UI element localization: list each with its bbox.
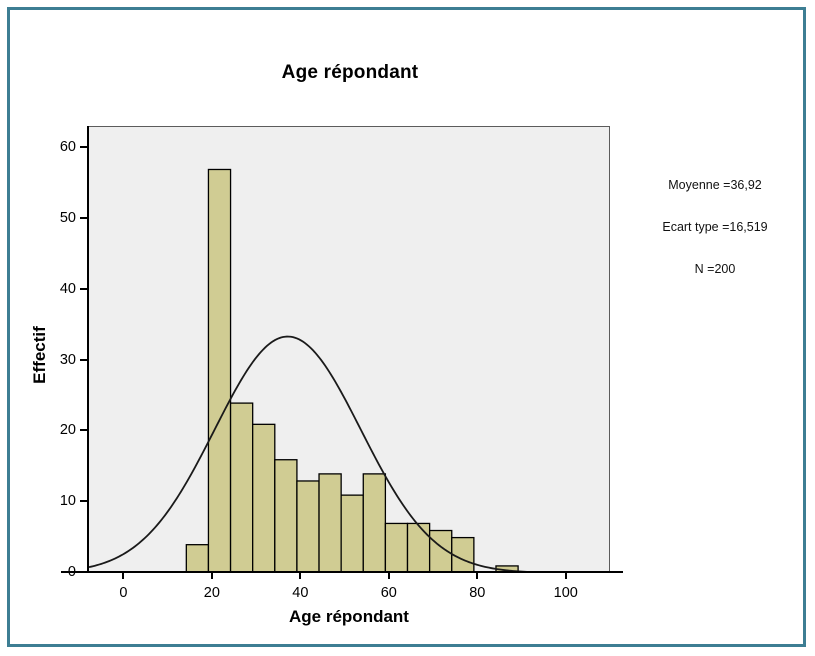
plot-area [88, 126, 610, 572]
statistics-annotation: Moyenne =36,92 Ecart type =16,519 N =200 [630, 150, 800, 304]
x-tick-label: 80 [469, 585, 485, 601]
bars-group [186, 169, 518, 572]
histogram-bar [297, 481, 319, 572]
y-tick-mark [80, 288, 88, 290]
histogram-bar [341, 495, 363, 572]
histogram-bar [319, 474, 341, 572]
stat-sd: Ecart type =16,519 [630, 220, 800, 234]
histogram-bar [253, 424, 275, 572]
y-axis-title: Effectif [30, 295, 50, 415]
histogram-bar [408, 523, 430, 572]
x-tick-mark [122, 571, 124, 579]
x-axis-title: Age répondant [88, 607, 610, 627]
y-tick-label: 20 [60, 422, 76, 438]
x-axis: 020406080100 [0, 571, 700, 611]
histogram-bar [275, 460, 297, 572]
y-tick-label: 10 [60, 493, 76, 509]
x-tick-mark [565, 571, 567, 579]
y-tick-mark [80, 429, 88, 431]
y-tick-mark [80, 500, 88, 502]
x-tick-label: 60 [381, 585, 397, 601]
y-tick-label: 50 [60, 210, 76, 226]
y-tick-label: 60 [60, 139, 76, 155]
histogram-bar [363, 474, 385, 572]
y-tick-label: 40 [60, 281, 76, 297]
stat-mean: Moyenne =36,92 [630, 178, 800, 192]
y-tick-label: 30 [60, 352, 76, 368]
histogram-bar [385, 523, 407, 572]
histogram-chart: Age répondant Moyenne =36,92 Ecart type … [0, 0, 815, 656]
x-tick-label: 40 [292, 585, 308, 601]
x-tick-label: 20 [204, 585, 220, 601]
x-tick-mark [388, 571, 390, 579]
histogram-bar [186, 545, 208, 572]
plot-svg [89, 127, 610, 572]
chart-title: Age répondant [0, 62, 700, 84]
stat-n: N =200 [630, 262, 800, 276]
x-tick-mark [299, 571, 301, 579]
x-tick-mark [211, 571, 213, 579]
histogram-bar [208, 169, 230, 572]
y-tick-mark [80, 217, 88, 219]
histogram-bar [231, 403, 253, 572]
y-tick-mark [80, 146, 88, 148]
y-tick-mark [80, 359, 88, 361]
x-tick-mark [476, 571, 478, 579]
x-tick-label: 100 [554, 585, 578, 601]
x-tick-label: 0 [119, 585, 127, 601]
